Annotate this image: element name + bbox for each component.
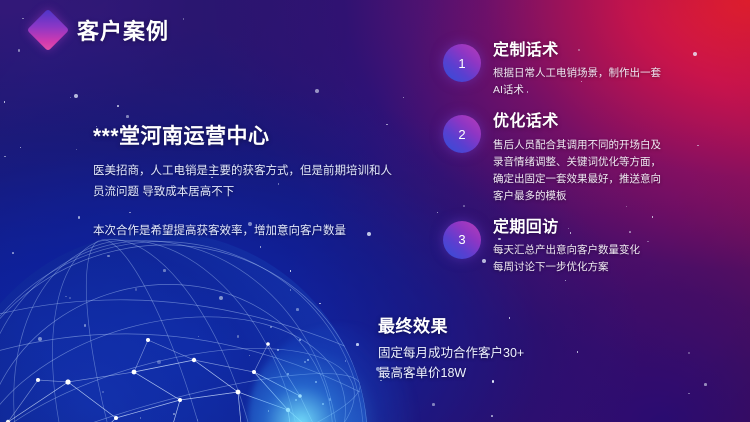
- step-item-1: 1定制话术根据日常人工电销场景，制作出一套AI话术: [443, 42, 733, 99]
- case-heading: ***堂河南运营中心: [93, 124, 393, 149]
- diamond-icon: [27, 9, 69, 51]
- step-body: 优化话术售后人员配合其调用不同的开场白及录音情绪调整、关键词优化等方面，确定出固…: [493, 113, 733, 204]
- step-number-badge: 3: [443, 221, 481, 259]
- step-description: 每天汇总产出意向客户数量变化每周讨论下一步优化方案: [493, 242, 733, 276]
- result-title: 最终效果: [378, 312, 638, 337]
- step-description-line: 每天汇总产出意向客户数量变化: [493, 242, 733, 259]
- step-description-line: 确定出固定一套效果最好，推送意向: [493, 171, 733, 188]
- step-number-badge: 1: [443, 44, 481, 82]
- step-description-line: AI话术: [493, 82, 733, 99]
- case-description-block: ***堂河南运营中心 医美招商，人工电销是主要的获客方式，但是前期培训和人 员流…: [93, 124, 393, 242]
- case-paragraph-1-line-2: 员流问题 导致成本居高不下: [93, 186, 234, 198]
- step-title: 定制话术: [493, 42, 733, 60]
- step-body: 定制话术根据日常人工电销场景，制作出一套AI话术: [493, 42, 733, 99]
- step-title: 优化话术: [493, 113, 733, 131]
- steps-list: 1定制话术根据日常人工电销场景，制作出一套AI话术2优化话术售后人员配合其调用不…: [443, 42, 733, 290]
- result-block: 最终效果 固定每月成功合作客户30+ 最高客单价18W: [378, 312, 638, 384]
- case-paragraph-1: 医美招商，人工电销是主要的获客方式，但是前期培训和人 员流问题 导致成本居高不下: [93, 161, 393, 204]
- step-item-2: 2优化话术售后人员配合其调用不同的开场白及录音情绪调整、关键词优化等方面，确定出…: [443, 113, 733, 204]
- slide-header: 客户案例: [33, 14, 169, 46]
- step-description-line: 根据日常人工电销场景，制作出一套: [493, 65, 733, 82]
- step-description-line: 录音情绪调整、关键词优化等方面，: [493, 154, 733, 171]
- step-body: 定期回访每天汇总产出意向客户数量变化每周讨论下一步优化方案: [493, 219, 733, 276]
- step-description: 售后人员配合其调用不同的开场白及录音情绪调整、关键词优化等方面，确定出固定一套效…: [493, 137, 733, 205]
- step-description-line: 客户最多的模板: [493, 188, 733, 205]
- slide-canvas: 客户案例 ***堂河南运营中心 医美招商，人工电销是主要的获客方式，但是前期培训…: [0, 0, 750, 422]
- result-line-1: 固定每月成功合作客户30+: [378, 344, 638, 364]
- step-item-3: 3定期回访每天汇总产出意向客户数量变化每周讨论下一步优化方案: [443, 219, 733, 276]
- step-description-line: 每周讨论下一步优化方案: [493, 259, 733, 276]
- step-number-badge: 2: [443, 115, 481, 153]
- case-paragraph-1-line-1: 医美招商，人工电销是主要的获客方式，但是前期培训和人: [93, 165, 392, 177]
- result-line-2: 最高客单价18W: [378, 364, 638, 384]
- page-title: 客户案例: [77, 14, 169, 46]
- step-description-line: 售后人员配合其调用不同的开场白及: [493, 137, 733, 154]
- step-description: 根据日常人工电销场景，制作出一套AI话术: [493, 65, 733, 99]
- step-title: 定期回访: [493, 219, 733, 237]
- case-paragraph-2: 本次合作是希望提高获客效率，增加意向客户数量: [93, 221, 393, 242]
